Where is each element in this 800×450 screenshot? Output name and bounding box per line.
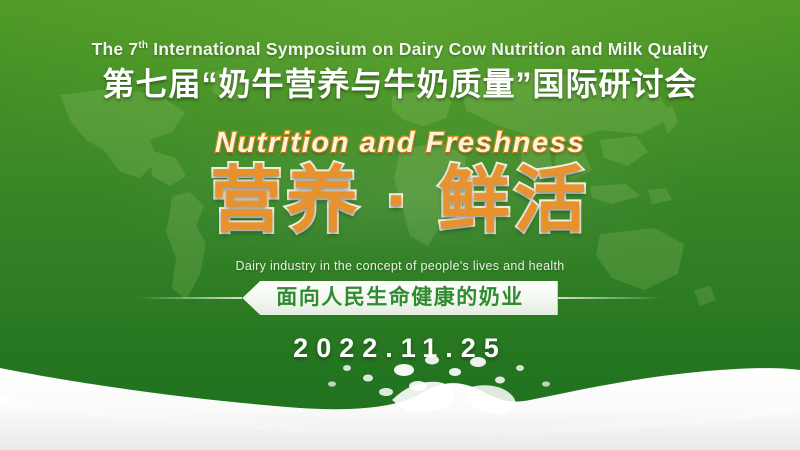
ribbon-banner: 面向人民生命健康的奶业 xyxy=(0,281,800,315)
slogan-english: Nutrition and Freshness xyxy=(0,126,800,160)
header-chinese-title: 第七届“奶牛营养与牛奶质量”国际研讨会 xyxy=(0,64,800,104)
header-ordinal-suffix: th xyxy=(138,40,148,51)
ribbon-line-left xyxy=(137,297,242,299)
slogan-chinese: 营养 · 鲜活 xyxy=(0,158,800,244)
header-english-post: International Symposium on Dairy Cow Nut… xyxy=(148,39,708,59)
poster-header: The 7th International Symposium on Dairy… xyxy=(0,38,800,104)
ribbon-line-right xyxy=(558,297,663,299)
ribbon-chinese-text: 面向人民生命健康的奶业 xyxy=(276,281,524,315)
ribbon-plate: 面向人民生命健康的奶业 xyxy=(242,281,558,315)
header-english-pre: The 7 xyxy=(92,39,139,59)
poster-slogan: Nutrition and Freshness 营养 · 鲜活 xyxy=(0,126,800,244)
event-date: 2022.11.25 xyxy=(0,331,800,365)
milk-splash-graphic xyxy=(0,350,800,450)
conference-poster: The 7th International Symposium on Dairy… xyxy=(0,0,800,450)
subtitle-english: Dairy industry in the concept of people'… xyxy=(0,258,800,274)
header-english-title: The 7th International Symposium on Dairy… xyxy=(0,38,800,60)
